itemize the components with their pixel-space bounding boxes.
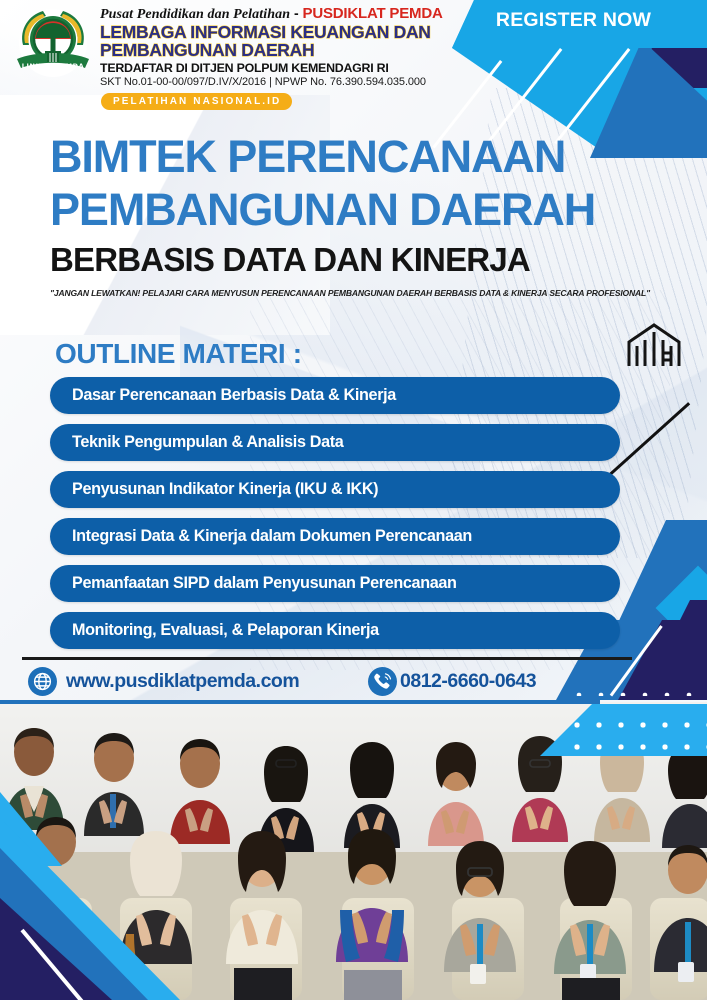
header-brand-name: PUSDIKLAT PEMDA <box>303 5 443 22</box>
outline-item[interactable]: Integrasi Data & Kinerja dalam Dokumen P… <box>50 518 620 555</box>
website-label: www.pusdiklatpemda.com <box>66 670 299 693</box>
outline-heading: OUTLINE MATERI : <box>55 338 302 370</box>
title-line-2: PEMBANGUNAN DAERAH <box>50 183 670 236</box>
organization-text-block: Pusat Pendidikan dan Pelatihan - PUSDIKL… <box>100 6 400 110</box>
decor-dots-upper <box>568 684 707 696</box>
outline-item-label: Monitoring, Evaluasi, & Pelaporan Kinerj… <box>50 621 379 640</box>
outline-item[interactable]: Penyusunan Indikator Kinerja (IKU & IKK) <box>50 471 620 508</box>
outline-item[interactable]: Monitoring, Evaluasi, & Pelaporan Kinerj… <box>50 612 620 649</box>
title-tagline: "JANGAN LEWATKAN! PELAJARI CARA MENYUSUN… <box>50 288 664 298</box>
outline-item-label: Teknik Pengumpulan & Analisis Data <box>50 433 343 452</box>
organization-logo: LINKEU PEMDA <box>9 5 97 87</box>
contact-divider <box>22 657 632 660</box>
contact-website[interactable]: www.pusdiklatpemda.com <box>28 663 299 699</box>
pelatihan-nasional-badge: PELATIHAN NASIONAL.ID <box>101 93 292 110</box>
promotional-poster: REGISTER NOW <box>0 0 707 1000</box>
decor-dots-lower <box>566 714 707 750</box>
building-icon <box>626 322 682 373</box>
header-script-text: Pusat Pendidikan dan Pelatihan <box>100 7 290 22</box>
phone-ring-icon <box>368 667 397 696</box>
outline-item-label: Dasar Perencanaan Berbasis Data & Kinerj… <box>50 386 396 405</box>
title-subtitle: BERBASIS DATA DAN KINERJA <box>50 239 670 281</box>
register-now-banner[interactable]: REGISTER NOW <box>452 0 707 48</box>
svg-text:LINKEU PEMDA: LINKEU PEMDA <box>22 62 85 70</box>
header-line-2: LEMBAGA INFORMASI KEUANGAN DAN <box>100 23 400 41</box>
phone-label: 0812-6660-0643 <box>400 670 536 693</box>
title-block: BIMTEK PERENCANAAN PEMBANGUNAN DAERAH BE… <box>50 130 670 298</box>
header-line-3: PEMBANGUNAN DAERAH <box>100 41 400 59</box>
header-dash: - <box>290 5 302 21</box>
outline-item[interactable]: Teknik Pengumpulan & Analisis Data <box>50 424 620 461</box>
outline-item[interactable]: Dasar Perencanaan Berbasis Data & Kinerj… <box>50 377 620 414</box>
globe-icon <box>28 667 57 696</box>
title-line-1: BIMTEK PERENCANAAN <box>50 130 670 183</box>
header-line-1: Pusat Pendidikan dan Pelatihan - PUSDIKL… <box>100 6 400 22</box>
contact-phone[interactable]: 0812-6660-0643 <box>368 663 536 699</box>
linkeu-pemda-emblem-icon: LINKEU PEMDA <box>9 5 97 87</box>
contact-underline-bar <box>0 700 600 704</box>
outline-item-label: Penyusunan Indikator Kinerja (IKU & IKK) <box>50 480 378 499</box>
outline-list: Dasar Perencanaan Berbasis Data & Kinerj… <box>50 377 620 659</box>
outline-item-label: Pemanfaatan SIPD dalam Penyusunan Perenc… <box>50 574 457 593</box>
outline-item-label: Integrasi Data & Kinerja dalam Dokumen P… <box>50 527 472 546</box>
header-license-numbers: SKT No.01-00-00/097/D.IV/X/2016 | NPWP N… <box>100 76 400 89</box>
register-now-label: REGISTER NOW <box>452 9 695 32</box>
outline-item[interactable]: Pemanfaatan SIPD dalam Penyusunan Perenc… <box>50 565 620 602</box>
header-registration-line: TERDAFTAR DI DITJEN POLPUM KEMENDAGRI RI <box>100 61 400 75</box>
